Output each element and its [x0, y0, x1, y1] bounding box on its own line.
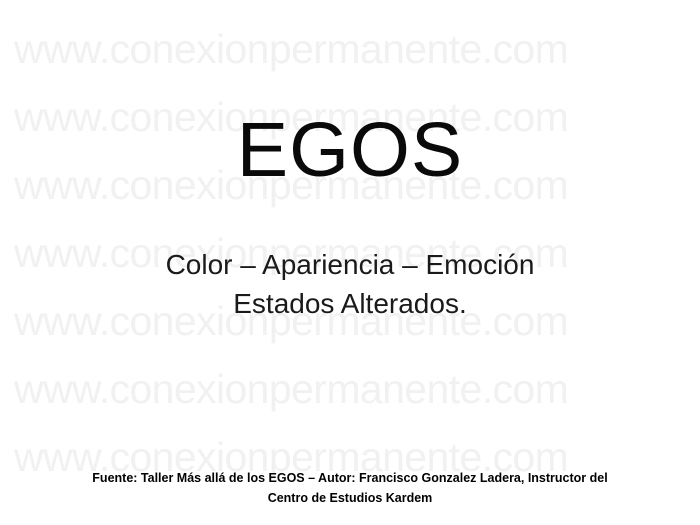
- slide-content: EGOS Color – Apariencia – Emoción Estado…: [0, 0, 700, 525]
- presentation-slide: www.conexionpermanente.com www.conexionp…: [0, 0, 700, 525]
- slide-footer-attribution: Fuente: Taller Más allá de los EGOS – Au…: [20, 468, 680, 508]
- footer-line-1: Fuente: Taller Más allá de los EGOS – Au…: [20, 468, 680, 488]
- subtitle-line-2: Estados Alterados.: [0, 284, 700, 323]
- slide-title: EGOS: [0, 112, 700, 189]
- subtitle-line-1: Color – Apariencia – Emoción: [0, 245, 700, 284]
- slide-subtitle: Color – Apariencia – Emoción Estados Alt…: [0, 245, 700, 323]
- footer-line-2: Centro de Estudios Kardem: [20, 488, 680, 508]
